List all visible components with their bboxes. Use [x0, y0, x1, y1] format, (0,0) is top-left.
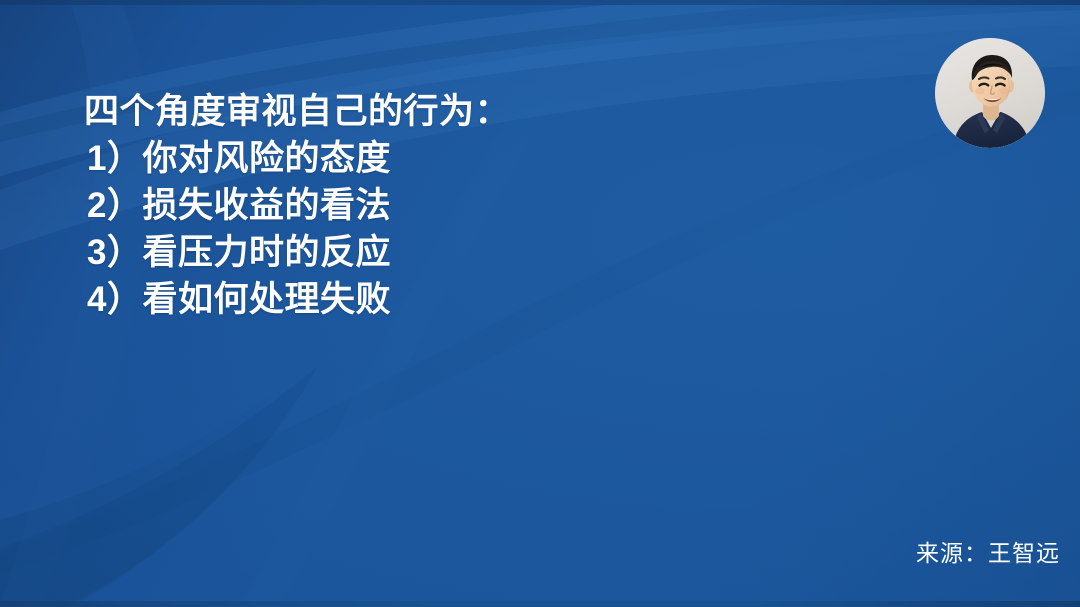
bottom-edge-band — [0, 601, 1080, 607]
source-credit-label: 来源：王智远 — [916, 534, 1060, 568]
list-item-1: 1）你对风险的态度 — [84, 135, 804, 182]
top-edge-band — [0, 0, 1080, 5]
list-item-4: 4）看如何处理失败 — [84, 276, 804, 323]
list-item-2: 2）损失收益的看法 — [84, 182, 804, 229]
list-item-3: 3）看压力时的反应 — [84, 229, 804, 276]
person-portrait-photo-icon — [935, 38, 1045, 148]
slide-text-block: 四个角度审视自己的行为： 1）你对风险的态度 2）损失收益的看法 3）看压力时的… — [84, 88, 804, 323]
slide-headline: 四个角度审视自己的行为： — [84, 88, 804, 135]
slide-canvas: 四个角度审视自己的行为： 1）你对风险的态度 2）损失收益的看法 3）看压力时的… — [0, 0, 1080, 607]
speaker-avatar — [935, 38, 1045, 148]
